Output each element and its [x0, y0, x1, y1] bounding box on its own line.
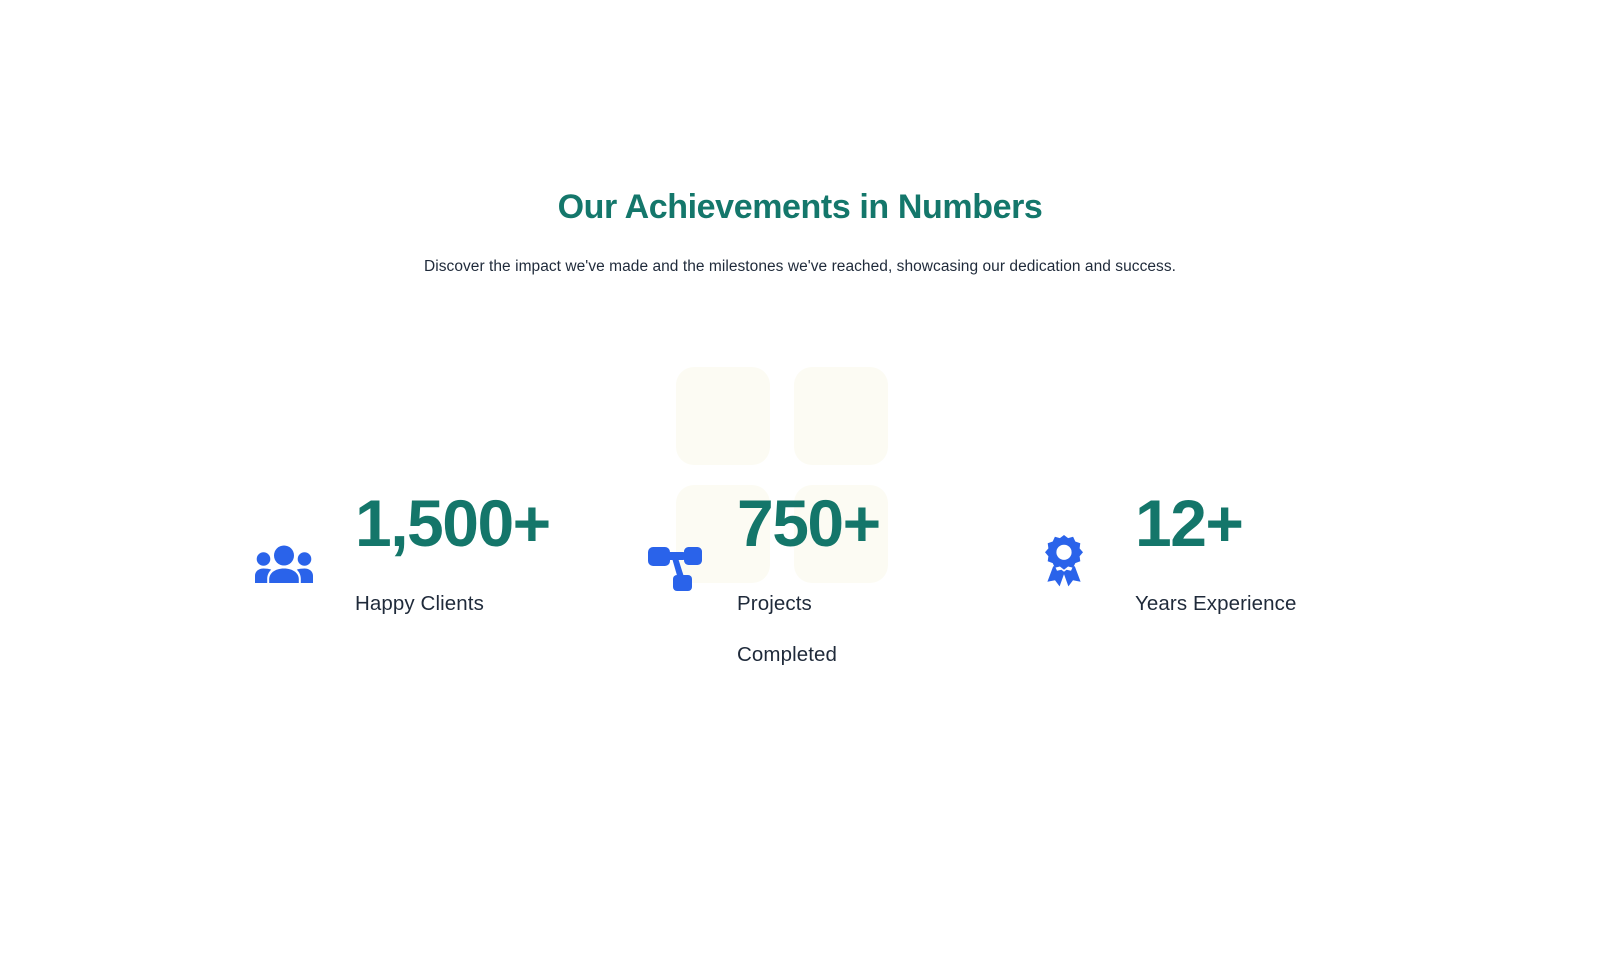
stat-label: Happy Clients [355, 578, 484, 629]
section-heading-block: Our Achievements in Numbers Discover the… [0, 186, 1600, 278]
sitemap-projects-icon [645, 538, 703, 596]
stat-item-happy-clients: 1,500+ Happy Clients [215, 490, 605, 629]
stat-value: 1,500+ [355, 490, 550, 556]
stat-value: 12+ [1135, 490, 1242, 556]
stat-text-group: 750+ Projects Completed [737, 490, 880, 681]
stat-text-group: 12+ Years Experience [1135, 490, 1297, 629]
decor-square [676, 367, 770, 465]
section-subtitle: Discover the impact we've made and the m… [0, 255, 1600, 278]
decor-square [794, 367, 888, 465]
stat-item-years-experience: 12+ Years Experience [995, 490, 1385, 629]
users-group-icon [255, 534, 313, 592]
stat-value: 750+ [737, 490, 880, 556]
award-ribbon-icon [1035, 534, 1093, 592]
page-title: Our Achievements in Numbers [0, 186, 1600, 229]
stat-item-projects-completed: 750+ Projects Completed [605, 490, 995, 681]
stat-label: Years Experience [1135, 578, 1297, 629]
stat-text-group: 1,500+ Happy Clients [355, 490, 550, 629]
stats-row: 1,500+ Happy Clients 750+ P [0, 490, 1600, 681]
stat-label: Projects Completed [737, 578, 833, 681]
achievements-section: Our Achievements in Numbers Discover the… [0, 0, 1600, 978]
